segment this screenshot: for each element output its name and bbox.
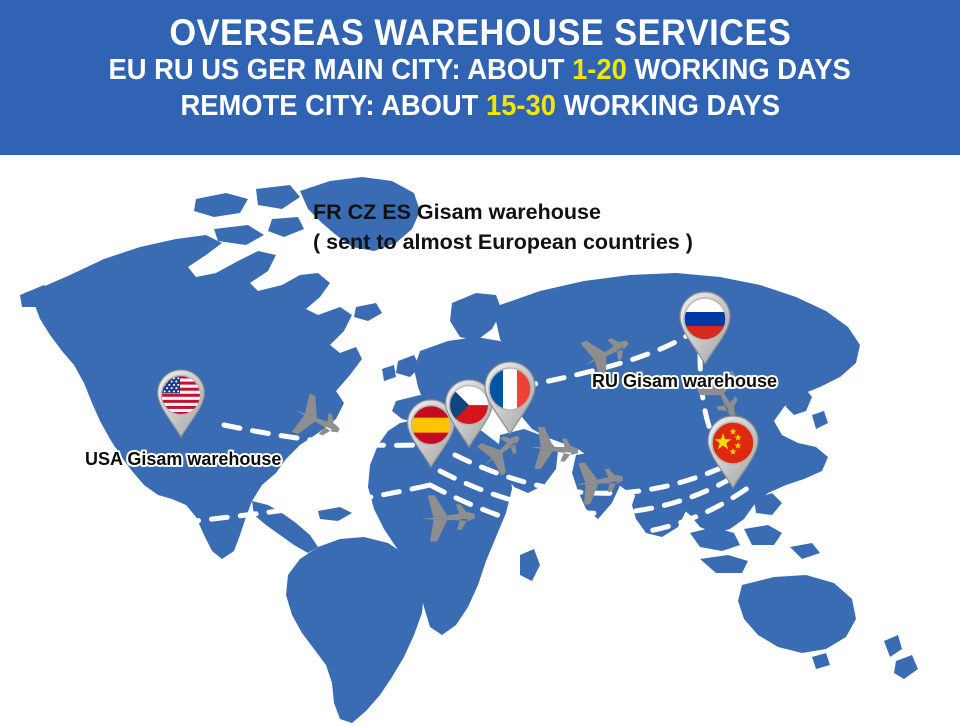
- overseas-warehouse-banner-graphic: OVERSEAS WAREHOUSE SERVICES EU RU US GER…: [0, 0, 960, 726]
- main-city-days-highlight: 1-20: [572, 54, 627, 86]
- map-pin-china[interactable]: [702, 414, 764, 492]
- remote-city-text-post: WORKING DAYS: [556, 90, 780, 122]
- arctic-island-4: [268, 217, 304, 237]
- caption-line-2: ( sent to almost European countries ): [313, 227, 693, 257]
- japan-south-shape: [812, 411, 828, 429]
- madagascar-shape: [520, 549, 540, 581]
- caption-line-1: FR CZ ES Gisam warehouse: [313, 197, 693, 227]
- map-pin-france[interactable]: [479, 360, 541, 438]
- usa-warehouse-label: USA Gisam warehouse: [85, 449, 281, 470]
- indonesia-shape-3: [700, 555, 748, 573]
- ru-warehouse-label: RU Gisam warehouse: [592, 371, 777, 392]
- header-banner: OVERSEAS WAREHOUSE SERVICES EU RU US GER…: [0, 0, 960, 155]
- remote-city-days-highlight: 15-30: [486, 90, 556, 122]
- arctic-island-2: [256, 185, 300, 209]
- arctic-island-3: [214, 225, 264, 245]
- remote-city-line: REMOTE CITY: ABOUT 15-30 WORKING DAYS: [180, 90, 779, 123]
- main-city-line: EU RU US GER MAIN CITY: ABOUT 1-20 WORKI…: [109, 54, 851, 87]
- iceland-shape: [354, 303, 382, 321]
- indonesia-shape-1: [690, 527, 740, 551]
- tasmania-shape: [812, 653, 830, 669]
- south-america-shape: [286, 537, 424, 723]
- australia-shape: [738, 575, 856, 653]
- new-zealand-south-shape: [894, 655, 918, 679]
- caribbean-shape: [318, 507, 352, 521]
- main-city-text-post: WORKING DAYS: [627, 54, 851, 86]
- ireland-shape: [382, 365, 396, 381]
- arctic-island-1: [194, 193, 248, 217]
- new-zealand-north-shape: [884, 635, 902, 657]
- map-pin-russia[interactable]: [674, 290, 736, 368]
- remote-city-text-pre: REMOTE CITY: ABOUT: [180, 90, 486, 122]
- europe-warehouse-caption: FR CZ ES Gisam warehouse ( sent to almos…: [313, 197, 693, 257]
- map-pin-usa[interactable]: [152, 368, 210, 441]
- new-guinea-shape: [790, 543, 820, 559]
- main-city-text-pre: EU RU US GER MAIN CITY: ABOUT: [109, 54, 573, 86]
- page-title: OVERSEAS WAREHOUSE SERVICES: [169, 14, 791, 52]
- indonesia-shape-2: [744, 525, 782, 545]
- scandinavia-shape: [450, 293, 502, 341]
